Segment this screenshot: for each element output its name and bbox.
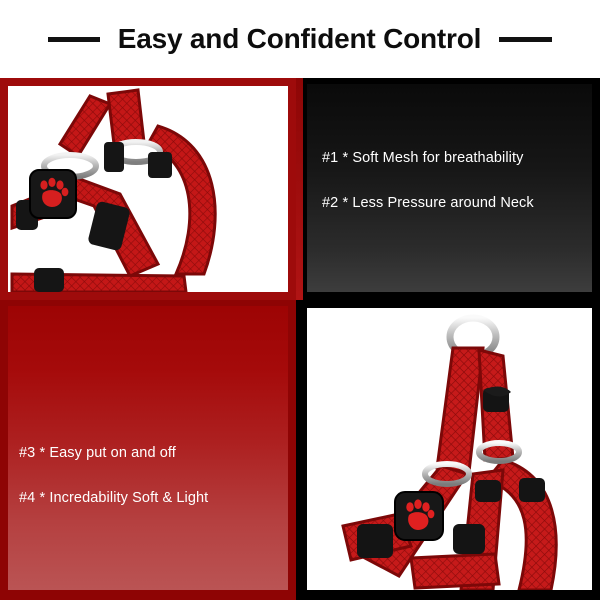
harness-full-illustration <box>307 308 592 590</box>
rule-right-decoration <box>499 37 552 42</box>
bottom-right-photo-frame <box>296 300 600 600</box>
top-left-photo-frame <box>0 78 296 300</box>
feature-item-4: #4 * Incredability Soft & Light <box>19 490 208 506</box>
rule-left-decoration <box>48 37 100 42</box>
feature-item-3: #3 * Easy put on and off <box>19 445 176 461</box>
top-right-panel-surface: #1 * Soft Mesh for breathability #2 * Le… <box>307 84 592 292</box>
panel-red-edge-accent <box>296 78 303 300</box>
infographic-page: Easy and Confident Control <box>0 0 600 600</box>
header-banner: Easy and Confident Control <box>0 0 600 78</box>
bottom-left-panel-surface: #3 * Easy put on and off #4 * Incredabil… <box>8 306 288 590</box>
paw-logo-patch <box>30 170 76 218</box>
paw-logo-patch <box>395 492 443 540</box>
feature-item-2: #2 * Less Pressure around Neck <box>322 195 534 211</box>
top-right-feature-panel: #1 * Soft Mesh for breathability #2 * Le… <box>296 78 600 300</box>
feature-item-1: #1 * Soft Mesh for breathability <box>322 150 523 166</box>
bottom-right-photo-image <box>307 308 592 590</box>
bottom-left-feature-panel: #3 * Easy put on and off #4 * Incredabil… <box>0 300 296 600</box>
top-left-photo-image <box>8 86 288 292</box>
page-title: Easy and Confident Control <box>118 25 481 53</box>
harness-closeup-illustration <box>8 86 288 292</box>
